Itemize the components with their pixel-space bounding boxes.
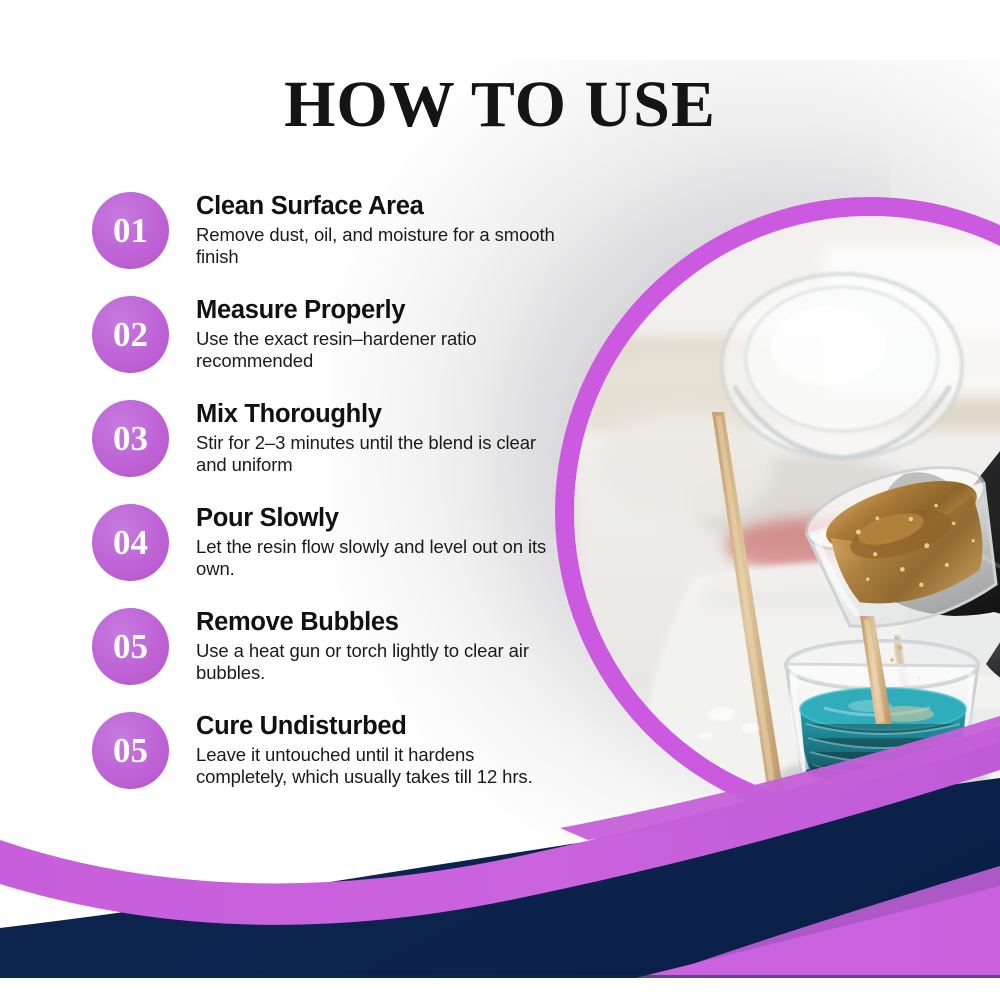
step-content: Clean Surface Area Remove dust, oil, and… <box>196 190 556 269</box>
step-number-badge: 04 <box>92 504 169 581</box>
step-content: Remove Bubbles Use a heat gun or torch l… <box>196 606 556 685</box>
list-item: 05 Cure Undisturbed Leave it untouched u… <box>92 710 562 814</box>
step-description: Let the resin flow slowly and level out … <box>196 536 556 582</box>
photo-circle-ring <box>555 197 1000 827</box>
list-item: 01 Clean Surface Area Remove dust, oil, … <box>92 190 562 294</box>
step-number-badge: 05 <box>92 712 169 789</box>
step-description: Use the exact resin–hardener ratio recom… <box>196 328 556 374</box>
step-content: Mix Thoroughly Stir for 2–3 minutes unti… <box>196 398 556 477</box>
resin-mixing-photo <box>574 216 1000 808</box>
page-title: HOW TO USE <box>0 72 1000 138</box>
poster-canvas: HOW TO USE 01 Clean Surface Area Remove … <box>0 0 1000 1000</box>
list-item: 02 Measure Properly Use the exact resin–… <box>92 294 562 398</box>
step-number-badge: 05 <box>92 608 169 685</box>
step-title: Measure Properly <box>196 297 556 325</box>
step-number-badge: 01 <box>92 192 169 269</box>
step-content: Measure Properly Use the exact resin–har… <box>196 294 556 373</box>
step-number-badge: 02 <box>92 296 169 373</box>
step-content: Pour Slowly Let the resin flow slowly an… <box>196 502 556 581</box>
step-title: Remove Bubbles <box>196 609 556 637</box>
list-item: 05 Remove Bubbles Use a heat gun or torc… <box>92 606 562 710</box>
step-description: Leave it untouched until it hardens comp… <box>196 744 556 790</box>
step-title: Mix Thoroughly <box>196 401 556 429</box>
step-description: Use a heat gun or torch lightly to clear… <box>196 640 556 686</box>
step-description: Remove dust, oil, and moisture for a smo… <box>196 224 556 270</box>
step-title: Clean Surface Area <box>196 193 556 221</box>
step-number-badge: 03 <box>92 400 169 477</box>
photo-circle-image <box>574 216 1000 808</box>
step-content: Cure Undisturbed Leave it untouched unti… <box>196 710 556 789</box>
list-item: 03 Mix Thoroughly Stir for 2–3 minutes u… <box>92 398 562 502</box>
steps-list: 01 Clean Surface Area Remove dust, oil, … <box>92 190 562 814</box>
step-title: Cure Undisturbed <box>196 713 556 741</box>
step-description: Stir for 2–3 minutes until the blend is … <box>196 432 556 478</box>
list-item: 04 Pour Slowly Let the resin flow slowly… <box>92 502 562 606</box>
step-title: Pour Slowly <box>196 505 556 533</box>
